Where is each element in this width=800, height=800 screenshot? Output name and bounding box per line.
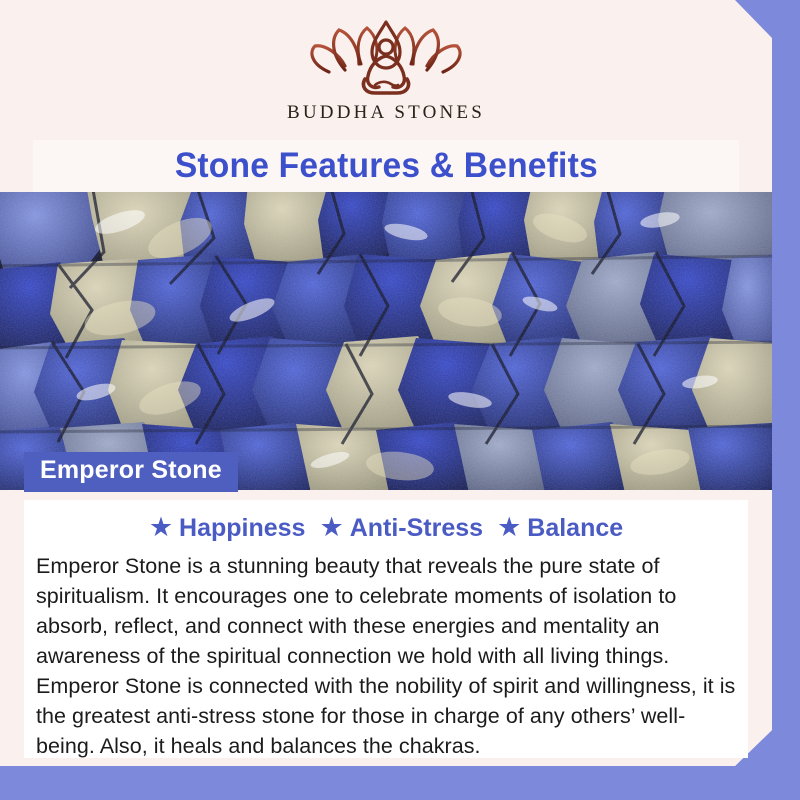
star-icon: ★ (319, 514, 343, 541)
lapis-lazuli-stones-illustration (0, 192, 772, 490)
star-icon: ★ (149, 514, 173, 541)
benefit-label: Anti-Stress (350, 514, 483, 543)
benefits-row: ★ Happiness ★ Anti-Stress ★ Balance (32, 514, 740, 543)
stone-name-banner: Emperor Stone (24, 452, 238, 492)
description-text: Emperor Stone is a stunning beauty that … (32, 551, 740, 761)
title-bar: Stone Features & Benefits (33, 140, 739, 192)
benefit-item-happiness: ★ Happiness (149, 514, 306, 543)
benefit-item-balance: ★ Balance (497, 514, 623, 543)
description-card: ★ Happiness ★ Anti-Stress ★ Balance Empe… (24, 500, 748, 758)
lotus-meditating-figure-logo (301, 16, 471, 98)
star-icon: ★ (497, 514, 521, 541)
benefit-label: Happiness (179, 514, 305, 543)
benefit-item-anti-stress: ★ Anti-Stress (319, 514, 483, 543)
description-paragraph-1: Emperor Stone is a stunning beauty that … (36, 551, 736, 671)
page-title: Stone Features & Benefits (174, 146, 597, 186)
brand-name: BUDDHA STONES (287, 102, 485, 124)
description-paragraph-2: Emperor Stone is connected with the nobi… (36, 671, 736, 761)
hero-stone-image (0, 192, 772, 490)
brand-header: BUDDHA STONES (0, 0, 772, 148)
benefit-label: Balance (527, 514, 623, 543)
